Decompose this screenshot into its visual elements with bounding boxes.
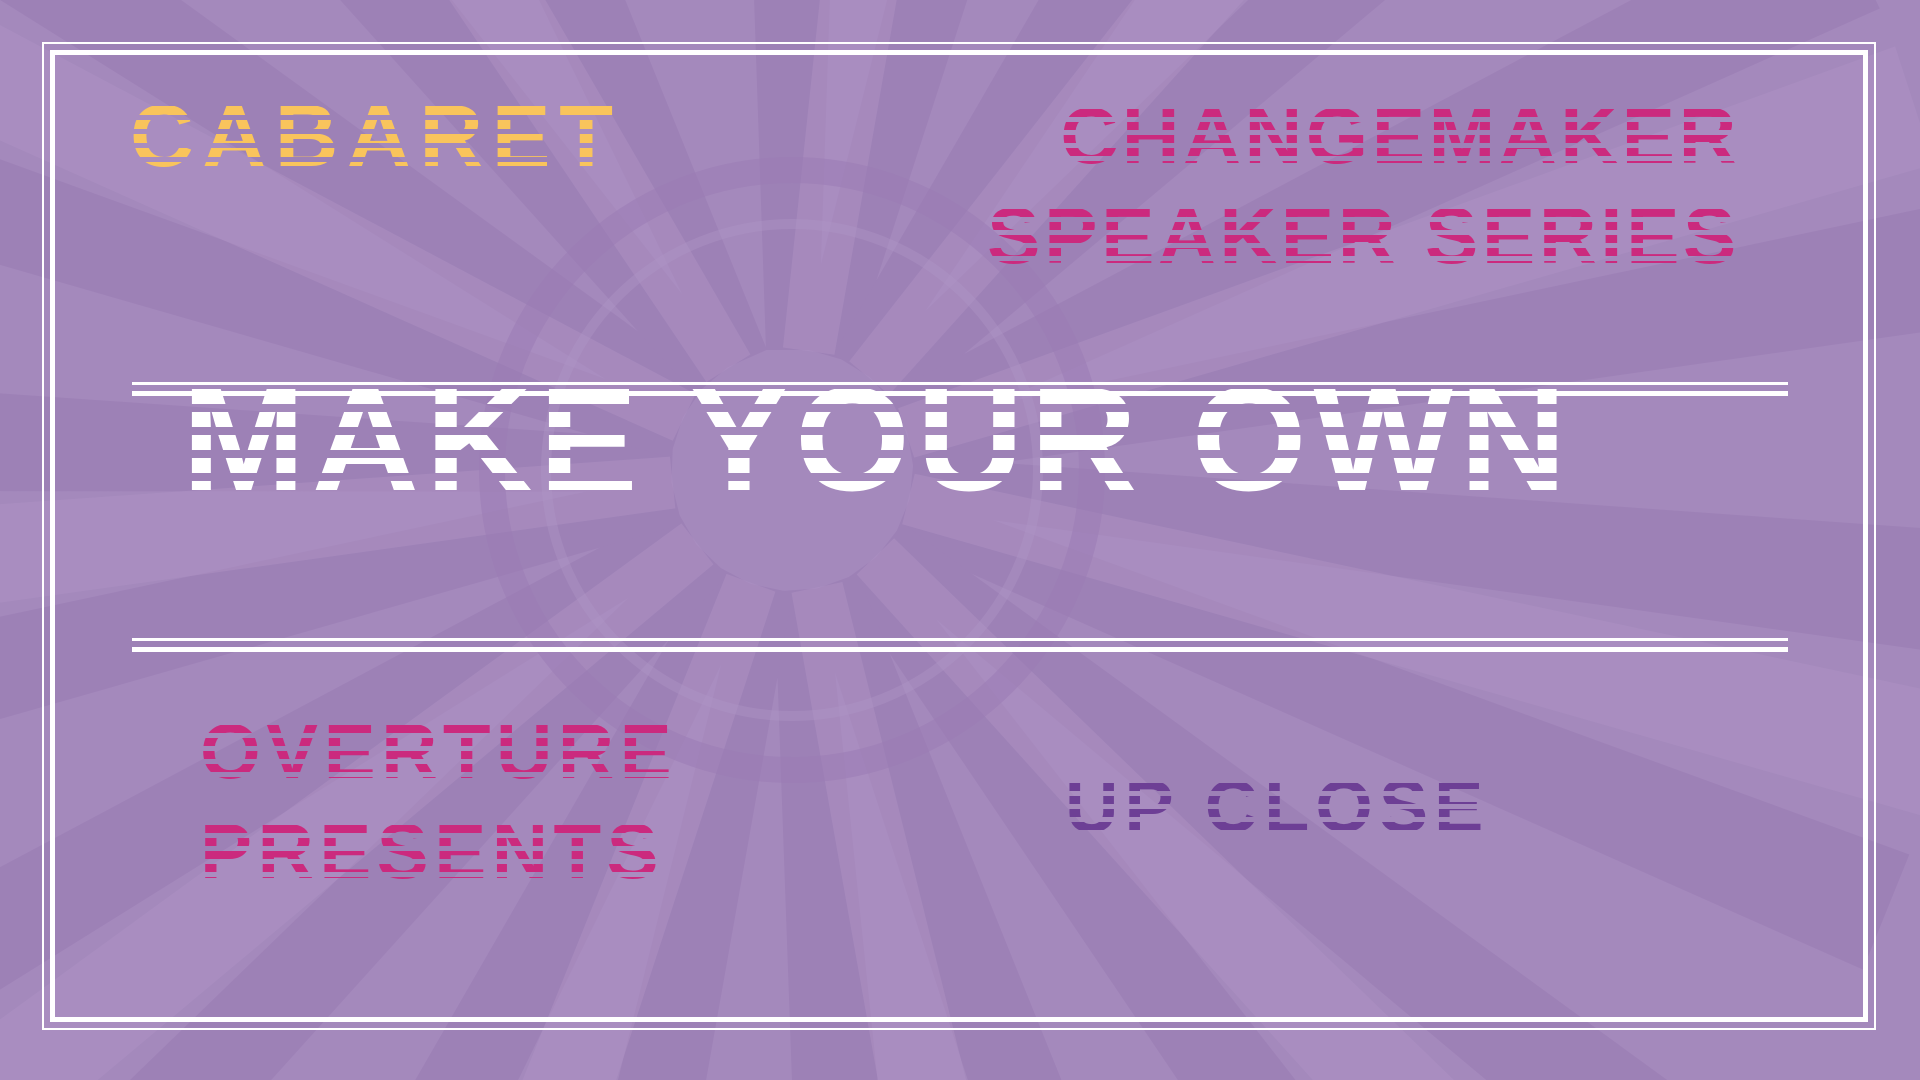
- format-label-up-close: UP CLOSE UP CLOSE: [1065, 770, 1489, 844]
- promotional-poster: CABARET CABARET CHANGEMAKER CHANGEMAKER …: [0, 0, 1920, 1080]
- double-rule-bottom: [132, 638, 1788, 652]
- presenter-line1-outline: OVERTURE: [200, 712, 677, 790]
- presenter-line2: PRESENTS PRESENTS: [200, 812, 664, 890]
- changemaker-line1-outline: CHANGEMAKER: [1060, 96, 1740, 176]
- up-close-outline: UP CLOSE: [1065, 770, 1489, 844]
- series-label-cabaret: CABARET CABARET: [130, 92, 622, 180]
- page-title: MAKE YOUR OWN MAKE YOUR OWN: [182, 366, 1573, 514]
- changemaker-line2-outline: SPEAKER SERIES: [987, 196, 1740, 276]
- headline-outline: MAKE YOUR OWN: [182, 366, 1573, 514]
- series-label-changemaker-line2: SPEAKER SERIES SPEAKER SERIES: [987, 196, 1740, 276]
- presenter-line1: OVERTURE OVERTURE: [200, 712, 677, 790]
- rule-bottom-thick-line: [132, 647, 1788, 652]
- presenter-line2-outline: PRESENTS: [200, 812, 664, 890]
- cabaret-outline: CABARET: [130, 92, 622, 180]
- series-label-changemaker-line1: CHANGEMAKER CHANGEMAKER: [1060, 96, 1740, 176]
